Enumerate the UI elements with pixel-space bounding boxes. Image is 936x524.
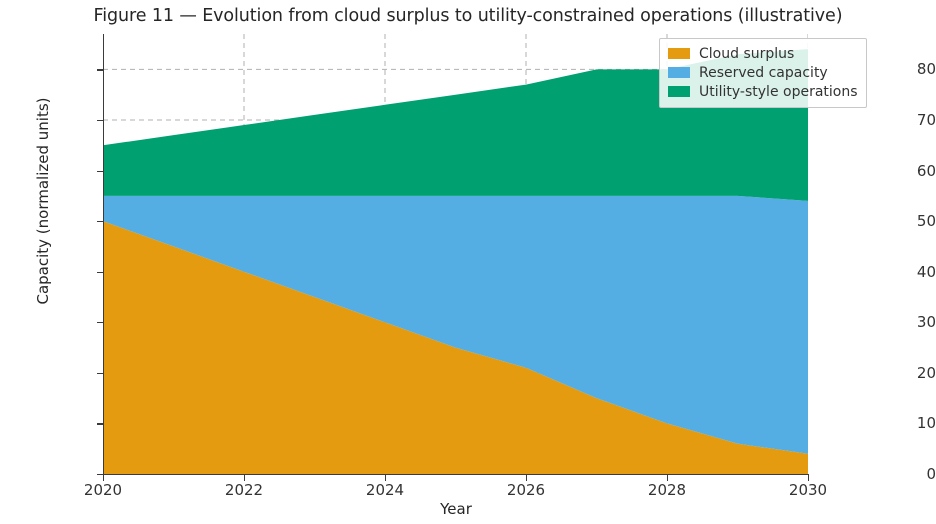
x-tick-label: 2024: [340, 481, 430, 499]
legend-swatch-icon: [668, 86, 690, 97]
y-tick-label: 0: [852, 465, 936, 483]
y-tick-label: 40: [852, 263, 936, 281]
y-tick-label: 50: [852, 212, 936, 230]
x-tick-mark: [385, 475, 386, 481]
x-tick-mark: [103, 475, 104, 481]
area-series-group: [103, 49, 808, 474]
legend-item[interactable]: Reserved capacity: [668, 63, 858, 82]
y-tick-mark: [97, 120, 103, 121]
chart-title: Figure 11 — Evolution from cloud surplus…: [0, 6, 936, 26]
y-tick-mark: [97, 322, 103, 323]
x-tick-label: 2026: [481, 481, 571, 499]
chart-legend[interactable]: Cloud surplusReserved capacityUtility-st…: [659, 38, 867, 108]
y-tick-mark: [97, 171, 103, 172]
x-axis-spine: [103, 474, 809, 475]
legend-item-label: Reserved capacity: [699, 65, 828, 81]
legend-item-label: Utility-style operations: [699, 84, 858, 100]
y-tick-mark: [97, 69, 103, 70]
legend-item[interactable]: Cloud surplus: [668, 44, 858, 63]
legend-swatch-icon: [668, 67, 690, 78]
x-tick-mark: [667, 475, 668, 481]
y-tick-mark: [97, 423, 103, 424]
x-tick-mark: [244, 475, 245, 481]
legend-swatch-icon: [668, 48, 690, 59]
x-tick-label: 2028: [622, 481, 712, 499]
x-tick-mark: [526, 475, 527, 481]
x-tick-label: 2030: [763, 481, 853, 499]
figure-container: Figure 11 — Evolution from cloud surplus…: [0, 0, 936, 524]
x-tick-label: 2022: [199, 481, 289, 499]
y-axis-label: Capacity (normalized units): [34, 36, 52, 366]
y-tick-label: 70: [852, 111, 936, 129]
y-tick-label: 60: [852, 162, 936, 180]
legend-item-label: Cloud surplus: [699, 46, 794, 62]
y-tick-mark: [97, 221, 103, 222]
legend-item[interactable]: Utility-style operations: [668, 82, 858, 101]
y-tick-label: 20: [852, 364, 936, 382]
y-tick-label: 30: [852, 313, 936, 331]
y-tick-mark: [97, 373, 103, 374]
x-tick-label: 2020: [58, 481, 148, 499]
x-axis-label: Year: [103, 500, 809, 518]
x-tick-mark: [808, 475, 809, 481]
y-tick-label: 10: [852, 414, 936, 432]
y-axis-spine: [103, 34, 104, 475]
y-tick-mark: [97, 272, 103, 273]
